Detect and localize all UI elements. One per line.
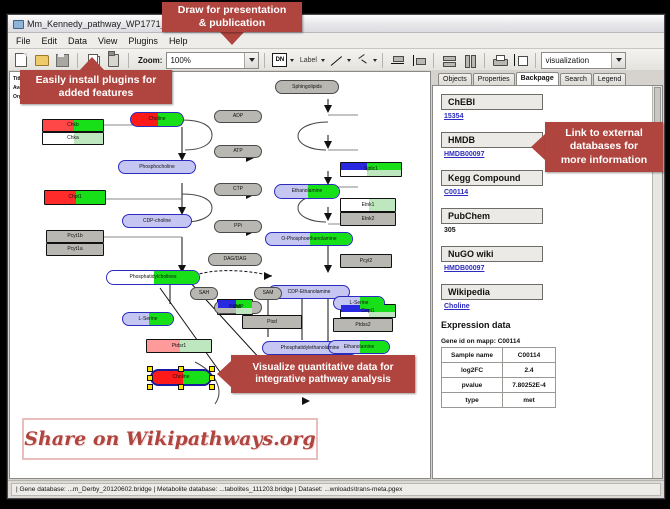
- node-dag-dag[interactable]: DAG/DAG: [208, 253, 262, 266]
- node-chkb[interactable]: Chkb: [42, 119, 104, 132]
- node-label: Pisd: [267, 320, 277, 325]
- node-l-serine-left[interactable]: L-Serine: [122, 312, 174, 326]
- screenshot-root: Mm_Kennedy_pathway_WP1771_45176.gpml Fil…: [0, 0, 670, 509]
- label-tool-text: Label: [300, 57, 317, 64]
- node-chpt1[interactable]: Chpt1: [44, 190, 106, 205]
- selection-handle[interactable]: [178, 366, 184, 372]
- table-row: log2FC 2.4: [442, 363, 556, 378]
- toolbar-separator-3: [264, 53, 265, 68]
- callout-draw-arrow: [219, 31, 245, 45]
- node-ptdsr1[interactable]: Ptdsr1: [146, 339, 212, 353]
- node-label: O-Phosphoethanolamine: [281, 237, 336, 242]
- callout-plugins-arrow: [79, 57, 105, 71]
- node-pcyt2[interactable]: Pcyt2: [340, 254, 392, 268]
- node-ptdss2[interactable]: Ptdss2: [333, 318, 393, 332]
- zoom-combo[interactable]: 100%: [166, 52, 259, 69]
- visualization-value: visualization: [545, 56, 589, 65]
- tab-properties[interactable]: Properties: [473, 73, 515, 85]
- node-pisd[interactable]: Pisd: [242, 315, 302, 329]
- db-link-wikipedia[interactable]: Choline: [444, 303, 654, 310]
- callout-visualize-arrow: [217, 361, 231, 387]
- node-label: DAG/DAG: [223, 257, 246, 262]
- node-label: Chka: [67, 136, 79, 141]
- pathvisio-icon: [12, 18, 23, 29]
- chevron-down-icon[interactable]: [244, 53, 258, 68]
- node-choline-top[interactable]: Choline: [130, 112, 184, 127]
- paste-icon[interactable]: [104, 51, 123, 70]
- node-label: PPi: [234, 224, 242, 229]
- node-label: Ethanolamine: [292, 189, 323, 194]
- callout-share-text: Share on Wikipathways.org: [24, 428, 315, 450]
- node-label: Phosphatidylethanolamine: [281, 346, 340, 351]
- anchor-icon[interactable]: [353, 51, 372, 70]
- node-atp[interactable]: ATP: [214, 145, 262, 158]
- node-label: Chpt1: [68, 195, 81, 200]
- menu-plugins[interactable]: Plugins: [123, 35, 163, 47]
- node-label: SAH: [199, 291, 209, 296]
- chevron-down-icon[interactable]: [347, 59, 351, 62]
- expr-key: Sample name: [442, 348, 503, 363]
- node-sptlc1[interactable]: Sptlc1: [340, 162, 402, 177]
- node-label: Chkb: [67, 123, 79, 128]
- expr-key: pvalue: [442, 378, 503, 393]
- node-label: Ptdss2: [355, 323, 370, 328]
- align-left-icon[interactable]: [409, 51, 428, 70]
- expr-value: C00114: [503, 348, 556, 363]
- selection-handle[interactable]: [147, 366, 153, 372]
- node-adp[interactable]: ADP: [214, 110, 262, 123]
- node-label: L-Serine: [350, 301, 369, 306]
- expression-table: Sample name C00114 log2FC 2.4 pvalue 7.8…: [441, 347, 556, 408]
- node-label: Sphingolipids: [292, 85, 322, 90]
- distribute-horizontal-icon[interactable]: [460, 51, 479, 70]
- toolbar: Zoom: 100% DN Label: [8, 49, 664, 72]
- new-file-icon[interactable]: [11, 51, 30, 70]
- tab-backpage[interactable]: Backpage: [516, 72, 559, 85]
- db-header-wikipedia: Wikipedia: [441, 284, 543, 300]
- toolbar-separator-7: [535, 53, 536, 68]
- node-label: Pcyt1a: [67, 247, 82, 252]
- anchor-tool-group[interactable]: [353, 51, 377, 70]
- status-text: | Gene database: ...m_Derby_20120602.bri…: [11, 483, 661, 496]
- node-label: CMP: [232, 305, 243, 310]
- expr-key: type: [442, 393, 503, 408]
- node-label: Pcyt2: [360, 259, 373, 264]
- expr-value: 7.80252E-4: [503, 378, 556, 393]
- node-sam[interactable]: SAM: [254, 287, 282, 300]
- node-chka[interactable]: Chka: [42, 132, 104, 145]
- toolbar-separator-4: [382, 53, 383, 68]
- menu-view[interactable]: View: [93, 35, 122, 47]
- expr-value: met: [503, 393, 556, 408]
- menu-data[interactable]: Data: [63, 35, 92, 47]
- menu-edit[interactable]: Edit: [37, 35, 63, 47]
- selection-handle[interactable]: [178, 384, 184, 390]
- node-phosphatidylcholines[interactable]: Phosphatidylcholines: [106, 270, 200, 285]
- selection-handle[interactable]: [209, 384, 215, 390]
- node-label: Ethanolamine: [344, 345, 375, 350]
- expression-data-heading: Expression data: [441, 320, 654, 330]
- side-tabs: Objects Properties Backpage Search Legen…: [432, 71, 663, 86]
- node-label: L-Serine: [139, 317, 158, 322]
- node-label: CDP-choline: [143, 219, 171, 224]
- node-label: Cept1: [361, 309, 374, 314]
- open-folder-icon[interactable]: [32, 51, 51, 70]
- datanode-icon[interactable]: DN: [270, 51, 289, 70]
- node-etnk1[interactable]: Etnk1: [340, 198, 396, 212]
- node-label: Etnk2: [362, 217, 375, 222]
- node-ethanolamine[interactable]: Ethanolamine: [274, 184, 340, 199]
- expr-key: log2FC: [442, 363, 503, 378]
- node-label: ATP: [233, 149, 242, 154]
- node-label: Sptlc1: [364, 167, 378, 172]
- status-bar: | Gene database: ...m_Derby_20120602.bri…: [8, 480, 664, 498]
- visualization-combo[interactable]: visualization: [541, 52, 626, 69]
- tab-objects[interactable]: Objects: [438, 73, 472, 85]
- gene-id-on-mapp: Gene id on mapp: C00114: [441, 338, 654, 345]
- callout-share: Share on Wikipathways.org: [22, 418, 318, 460]
- chevron-down-icon[interactable]: [290, 59, 294, 62]
- db-link-nugo-wiki[interactable]: HMDB00097: [444, 265, 654, 272]
- callout-links-arrow: [531, 134, 545, 160]
- label-tool-group[interactable]: Label: [296, 51, 325, 70]
- node-sah[interactable]: SAH: [190, 287, 218, 300]
- selection-handle[interactable]: [209, 366, 215, 372]
- callout-links: Link to external databases for more info…: [545, 122, 663, 172]
- expr-value: 2.4: [503, 363, 556, 378]
- export-icon[interactable]: [511, 51, 530, 70]
- db-link-chebi[interactable]: 15354: [444, 113, 654, 120]
- chevron-down-icon[interactable]: [611, 53, 625, 68]
- tab-search[interactable]: Search: [560, 73, 592, 85]
- menu-file[interactable]: File: [11, 35, 36, 47]
- node-ctp[interactable]: CTP: [214, 183, 262, 196]
- print-icon[interactable]: [490, 51, 509, 70]
- node-label: ADP: [233, 114, 243, 119]
- db-header-chebi: ChEBI: [441, 94, 543, 110]
- menu-help[interactable]: Help: [164, 35, 193, 47]
- save-icon[interactable]: [53, 51, 72, 70]
- table-row: type met: [442, 393, 556, 408]
- toolbar-separator-2: [128, 53, 129, 68]
- node-cdp-choline[interactable]: CDP-choline: [122, 214, 192, 228]
- node-label: Choline: [173, 375, 190, 380]
- node-label: Phosphocholine: [139, 165, 175, 170]
- tab-legend[interactable]: Legend: [593, 73, 626, 85]
- table-row: pvalue 7.80252E-4: [442, 378, 556, 393]
- toolbar-separator-6: [484, 53, 485, 68]
- node-etnk2[interactable]: Etnk2: [340, 212, 396, 226]
- db-value-pubchem: 305: [444, 227, 654, 234]
- zoom-value: 100%: [170, 56, 190, 65]
- title-bar: Mm_Kennedy_pathway_WP1771_45176.gpml: [8, 15, 664, 33]
- toolbar-separator-5: [433, 53, 434, 68]
- node-phosphocholine[interactable]: Phosphocholine: [118, 160, 196, 174]
- node-label: Ptdsr1: [172, 344, 186, 349]
- align-top-icon[interactable]: [388, 51, 407, 70]
- menu-bar: File Edit Data View Plugins Help: [8, 33, 664, 49]
- callout-plugins: Easily install plugins for added feature…: [20, 70, 172, 104]
- stack-vertical-icon[interactable]: [439, 51, 458, 70]
- node-label: Pcyt1b: [67, 234, 82, 239]
- toolbar-separator-1: [77, 53, 78, 68]
- db-link-kegg-compound[interactable]: C00114: [444, 189, 654, 196]
- chevron-down-icon[interactable]: [373, 59, 377, 62]
- node-label: CTP: [233, 187, 243, 192]
- node-label: Phosphatidylcholines: [130, 275, 177, 280]
- node-label: Choline: [149, 117, 166, 122]
- selection-handle[interactable]: [147, 384, 153, 390]
- node-sphingolipids[interactable]: Sphingolipids: [275, 80, 339, 94]
- callout-visualize: Visualize quantitative data for integrat…: [231, 355, 415, 393]
- node-o-phosphoethanolamine[interactable]: O-Phosphoethanolamine: [265, 232, 353, 246]
- node-ppi[interactable]: PPi: [214, 220, 262, 233]
- db-header-nugo-wiki: NuGO wiki: [441, 246, 543, 262]
- db-header-pubchem: PubChem: [441, 208, 543, 224]
- node-label: SAM: [263, 291, 274, 296]
- selection-handle[interactable]: [147, 375, 153, 381]
- selection-handle[interactable]: [209, 375, 215, 381]
- db-header-hmdb: HMDB: [441, 132, 543, 148]
- db-header-kegg-compound: Kegg Compound: [441, 170, 543, 186]
- datanode-tool-group[interactable]: DN: [270, 51, 294, 70]
- chevron-down-icon[interactable]: [321, 59, 325, 62]
- label-icon[interactable]: Label: [296, 51, 320, 70]
- table-row: Sample name C00114: [442, 348, 556, 363]
- node-label: CDP-Ethanolamine: [288, 290, 331, 295]
- node-pcyt1b[interactable]: Pcyt1b: [46, 230, 104, 243]
- line-icon[interactable]: [327, 51, 346, 70]
- callout-draw: Draw for presentation & publication: [162, 2, 302, 32]
- zoom-label: Zoom:: [138, 56, 162, 65]
- node-pcyt1a[interactable]: Pcyt1a: [46, 243, 104, 256]
- line-tool-group[interactable]: [327, 51, 351, 70]
- node-label: Etnk1: [362, 203, 375, 208]
